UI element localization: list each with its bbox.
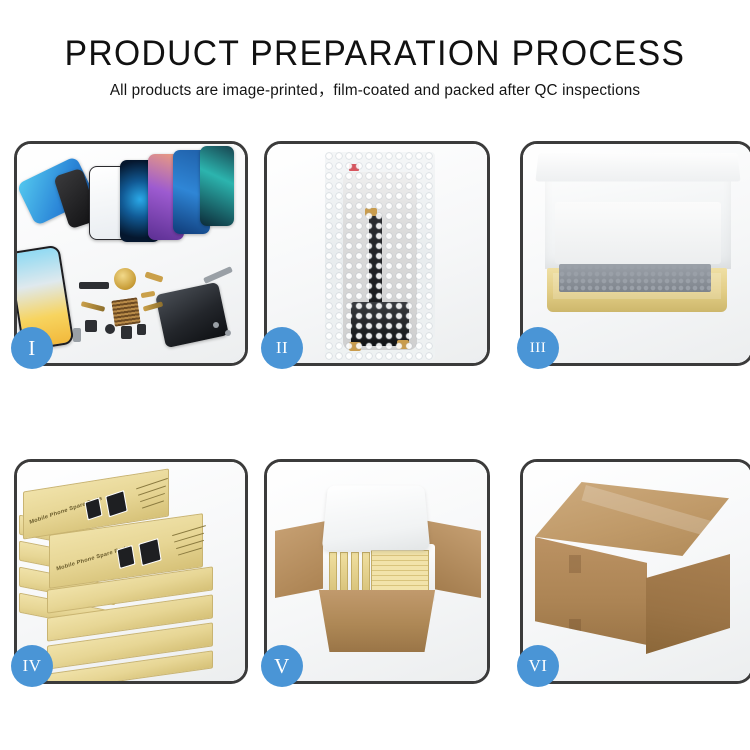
retail-box-slab-1 — [329, 552, 337, 592]
white-foam-sheet — [555, 202, 721, 264]
connector-grid-part — [111, 297, 140, 326]
box-top-spec-line-1 — [136, 478, 168, 490]
box-window-middle-1 — [117, 545, 136, 569]
box-window-top-2 — [105, 490, 128, 517]
screw-2 — [225, 330, 231, 336]
step-badge-5: V — [261, 645, 303, 687]
step-image-4: Mobile Phone Spare Parts Mobile Phone Sp… — [17, 462, 245, 681]
speaker-coil-part — [114, 268, 136, 290]
step-badge-1: I — [11, 327, 53, 369]
step-image-6 — [523, 462, 750, 681]
page-title: PRODUCT PREPARATION PROCESS — [15, 33, 735, 75]
small-part-6 — [121, 326, 132, 339]
step-panel-4[interactable]: Mobile Phone Spare Parts Mobile Phone Sp… — [14, 459, 248, 684]
small-part-4 — [85, 320, 97, 332]
step-badge-4: IV — [11, 645, 53, 687]
retail-box-group — [371, 550, 429, 594]
small-part-8 — [73, 328, 81, 342]
step-image-3 — [523, 144, 750, 363]
foam-lid — [322, 485, 431, 550]
artwork-carton-packing — [267, 462, 487, 681]
step-panel-6[interactable]: VI — [520, 459, 750, 684]
header: PRODUCT PREPARATION PROCESS All products… — [0, 0, 750, 125]
bubble-texture — [325, 152, 435, 360]
phone-screen-teal — [200, 146, 234, 226]
box-spec-line-4 — [178, 547, 202, 555]
step-panel-2[interactable]: II — [264, 141, 490, 366]
step-image-1 — [17, 144, 245, 363]
step-badge-6: VI — [517, 645, 559, 687]
box-top-spec-line-4 — [142, 500, 164, 508]
artwork-sealed-carton — [523, 462, 750, 681]
page-subtitle: All products are image-printed，film-coat… — [6, 81, 745, 101]
step-panel-1[interactable]: I — [14, 141, 248, 366]
step-panel-3[interactable]: III — [520, 141, 750, 366]
retail-box-slab-2 — [340, 552, 348, 592]
carton-body — [311, 590, 443, 652]
grey-foam-insert — [559, 264, 711, 292]
product-preparation-infographic: PRODUCT PREPARATION PROCESS All products… — [0, 0, 750, 750]
process-step-grid: I II — [14, 141, 736, 683]
artwork-foam-lined-box — [523, 144, 750, 363]
step-image-2 — [267, 144, 487, 363]
box-window-top-1 — [84, 497, 102, 520]
step-badge-3: III — [517, 327, 559, 369]
carton-seam-top — [569, 555, 581, 573]
bubble-wrap-bag — [325, 152, 435, 360]
retail-box-slab-4 — [362, 552, 370, 592]
retail-box-slab-3 — [351, 552, 359, 592]
box-window-middle-2 — [138, 538, 161, 566]
step-panel-5[interactable]: V — [264, 459, 490, 684]
artwork-raw-components — [17, 144, 245, 363]
small-part-7 — [137, 324, 146, 335]
small-part-1 — [79, 282, 109, 289]
small-part-5 — [105, 324, 115, 334]
artwork-stacked-boxes: Mobile Phone Spare Parts Mobile Phone Sp… — [17, 462, 245, 681]
screw-1 — [213, 322, 219, 328]
step-badge-2: II — [261, 327, 303, 369]
artwork-bubble-wrapped-screen — [267, 144, 487, 363]
step-image-5 — [267, 462, 487, 681]
